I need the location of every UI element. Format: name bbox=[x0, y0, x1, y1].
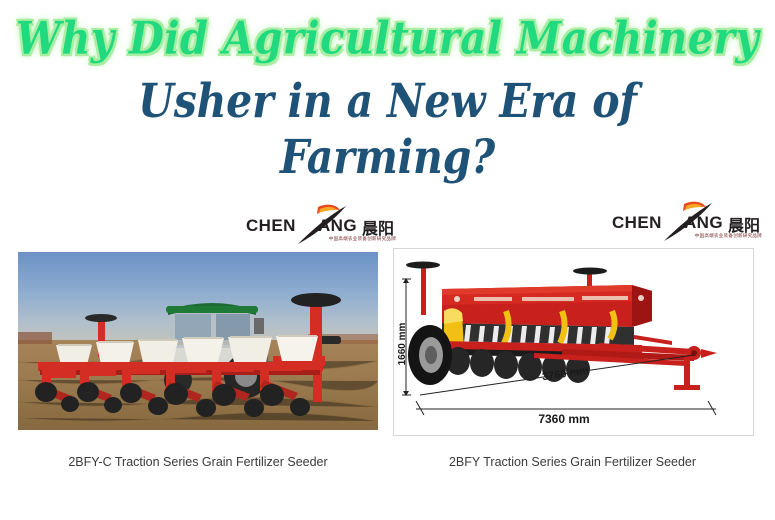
chenyang-logo-left: CHEN ANG 晨阳 中国高端农业装备创新研究品牌 bbox=[246, 206, 396, 246]
chenyang-logo-right: CHEN ANG 晨阳 中国高端农业装备创新研究品牌 bbox=[612, 203, 762, 243]
logo-tagline: 中国高端农业装备创新研究品牌 bbox=[292, 236, 396, 242]
dimension-height-label: 1660 mm bbox=[397, 322, 408, 365]
logo-text-ang: ANG bbox=[684, 213, 723, 233]
dimension-length-label: 7360 mm bbox=[538, 412, 589, 426]
logo-wordmark: CHEN ANG 晨阳 bbox=[246, 214, 396, 236]
grain-drill-diagram: 1660 mm 3760 mm 7360 mm bbox=[393, 248, 754, 436]
logo-tagline: 中国高端农业装备创新研究品牌 bbox=[658, 233, 762, 239]
page-title-line-1: Why Did Agricultural Machinery bbox=[0, 10, 775, 68]
page-title: Why Did Agricultural Machinery Usher in … bbox=[0, 0, 775, 177]
product-caption-left: 2BFY-C Traction Series Grain Fertilizer … bbox=[18, 455, 378, 469]
logo-text-ang: ANG bbox=[318, 216, 357, 236]
product-caption-right: 2BFY Traction Series Grain Fertilizer Se… bbox=[393, 455, 752, 469]
field-planter-illustration bbox=[18, 252, 378, 430]
field-planter-photo bbox=[18, 252, 378, 430]
page-title-line-2: Usher in a New Era of bbox=[0, 76, 775, 127]
logo-text-chen: CHEN bbox=[246, 216, 296, 236]
logo-wordmark: CHEN ANG 晨阳 bbox=[612, 211, 762, 233]
logo-text-chen: CHEN bbox=[612, 213, 662, 233]
page-title-line-3: Farming? bbox=[0, 132, 775, 183]
grain-drill-illustration: 1660 mm 3760 mm 7360 mm bbox=[394, 249, 751, 433]
